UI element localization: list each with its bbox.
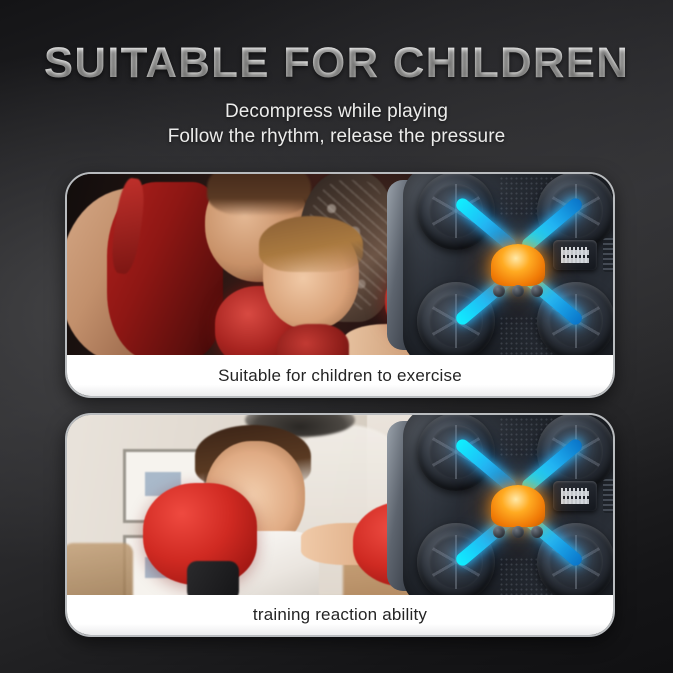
caption-bar-2: training reaction ability (67, 595, 613, 635)
control-button-group (493, 525, 543, 539)
music-boxing-machine-2 (403, 415, 613, 595)
page-title: SUITABLE FOR CHILDREN (0, 42, 673, 85)
music-boxing-machine-1 (403, 174, 613, 355)
center-orange-dome (491, 485, 545, 527)
brand-badge (553, 481, 597, 511)
center-orange-dome (491, 244, 545, 286)
header: SUITABLE FOR CHILDREN Decompress while p… (0, 42, 673, 149)
feature-card-1[interactable]: Suitable for children to exercise (65, 172, 615, 398)
child-glove-lower (277, 324, 349, 355)
brand-logo-icon (561, 247, 589, 263)
caption-text-1: Suitable for children to exercise (218, 366, 462, 386)
control-button-group (493, 284, 543, 298)
target-pad-top-left (417, 415, 495, 491)
device-vent-grille (603, 479, 613, 513)
wooden-chair (67, 543, 133, 595)
control-button-3 (531, 526, 543, 538)
boy-glove-cuff (187, 561, 239, 595)
control-button-1 (493, 526, 505, 538)
subtitle-group: Decompress while playing Follow the rhyt… (0, 99, 673, 149)
scene-photo-1 (67, 174, 613, 355)
control-button-2 (512, 285, 524, 297)
caption-text-2: training reaction ability (253, 605, 427, 625)
device-vent-grille (603, 238, 613, 272)
feature-card-2[interactable]: training reaction ability (65, 413, 615, 637)
brand-badge (553, 240, 597, 270)
coach-hair (207, 174, 311, 216)
caption-bar-1: Suitable for children to exercise (67, 355, 613, 396)
scene-photo-2 (67, 415, 613, 595)
subtitle-line-2: Follow the rhythm, release the pressure (0, 124, 673, 149)
promo-banner: SUITABLE FOR CHILDREN Decompress while p… (0, 0, 673, 673)
control-button-3 (531, 285, 543, 297)
subtitle-line-1: Decompress while playing (0, 99, 673, 124)
target-pad-top-left (417, 174, 495, 250)
brand-logo-icon (561, 488, 589, 504)
control-button-1 (493, 285, 505, 297)
child-hair (259, 216, 363, 272)
control-button-2 (512, 526, 524, 538)
